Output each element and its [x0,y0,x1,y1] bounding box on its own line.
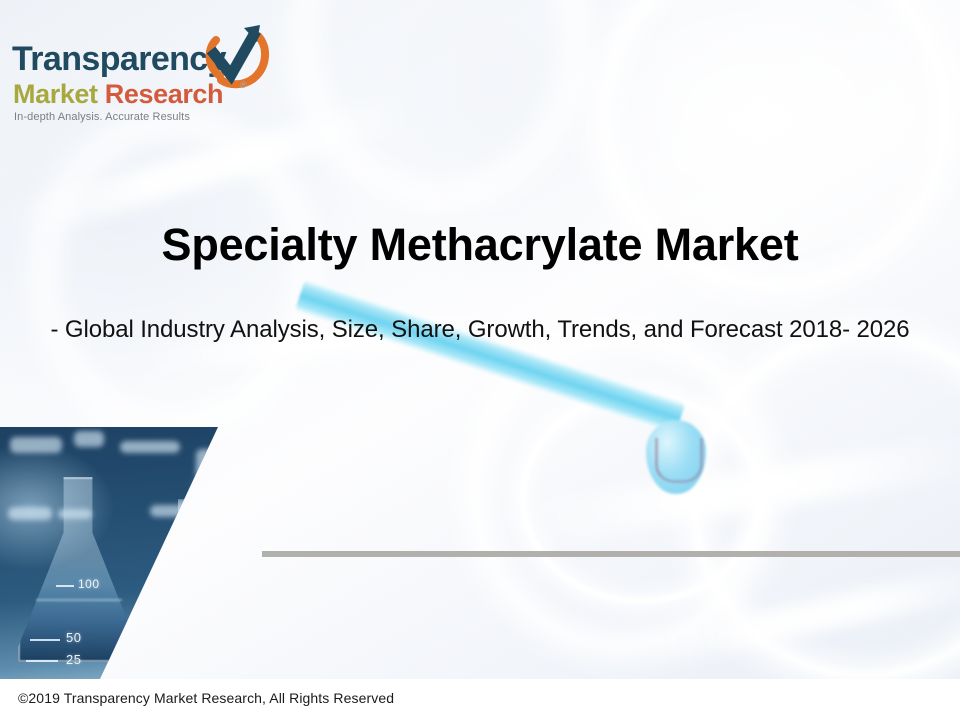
registered-trademark-icon: ® [240,80,247,90]
flask-graduation-25: 25 [66,652,81,667]
flask-graduation-100: 100 [78,577,100,591]
logo-word-transparency: Transparency [12,40,226,79]
logo-word-market: Market [13,79,98,109]
presentation-slide: 100 50 25 Transparency Market Research I… [0,0,960,720]
page-title: Specialty Methacrylate Market [0,220,960,270]
glass-rim-shape [300,0,580,200]
logo-tagline: In-depth Analysis. Accurate Results [14,111,190,123]
graduation-tick [26,660,58,662]
flask-graduation-50: 50 [66,630,81,645]
logo[interactable]: Transparency Market Research In-depth An… [12,22,272,132]
checkmark-arrow-arc-icon [200,22,274,96]
footer-copyright: ©2019 Transparency Market Research, All … [18,690,394,706]
divider-line [262,551,960,557]
logo-line-market-research: Market Research [13,79,223,110]
graduation-tick [56,585,74,587]
flask-liquid-surface [36,599,122,601]
page-subtitle: - Global Industry Analysis, Size, Share,… [0,316,960,344]
droplet-swirl [655,438,703,483]
graduation-tick [30,639,60,641]
